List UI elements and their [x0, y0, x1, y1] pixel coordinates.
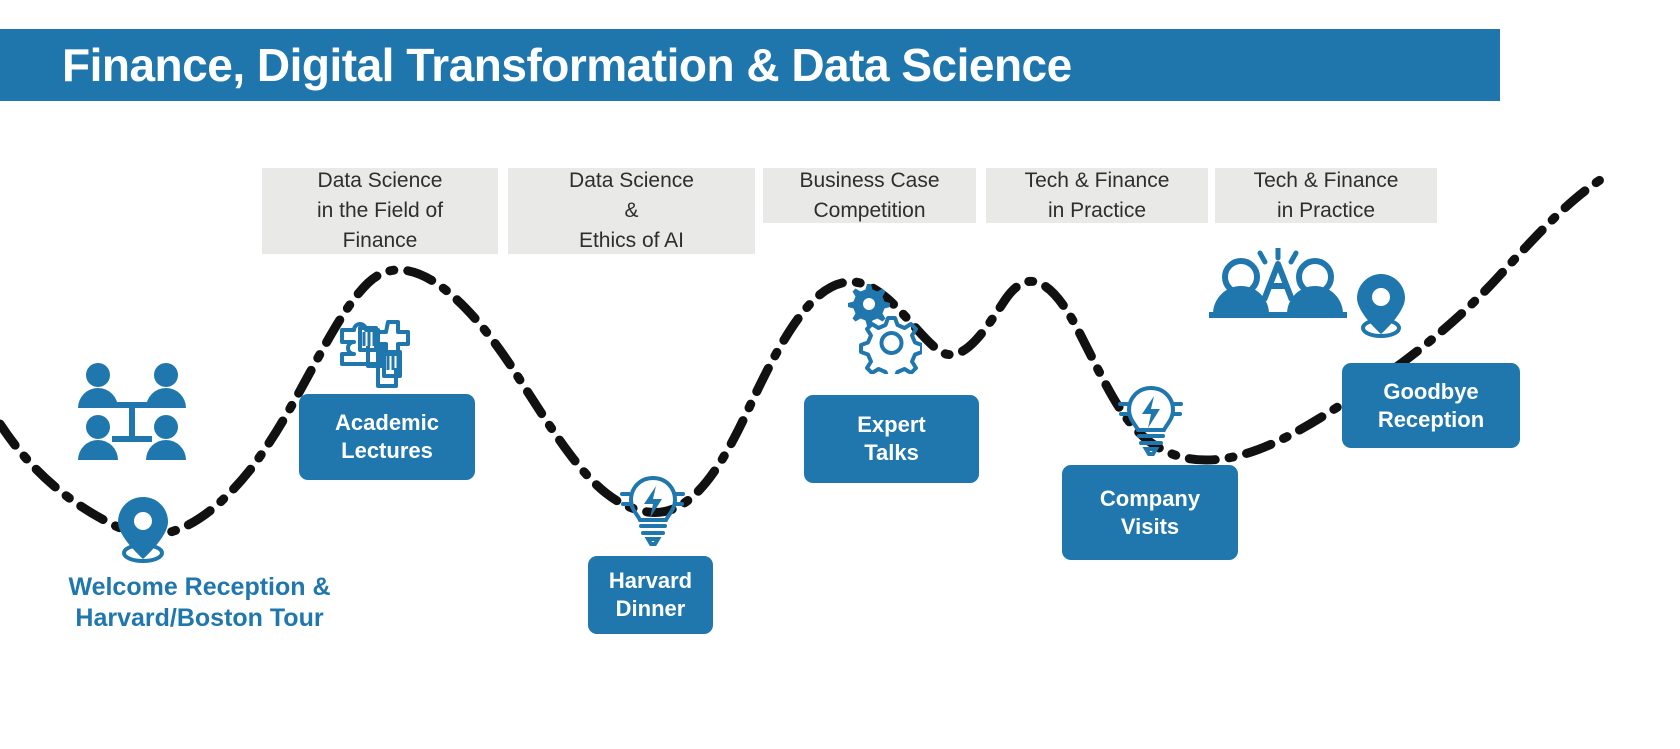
- topic-box-tech-finance-practice-2[interactable]: Tech & Finance in Practice: [1215, 168, 1437, 223]
- topic-line: Tech & Finance: [1025, 166, 1170, 196]
- topic-line: Data Science: [569, 166, 694, 196]
- event-line: Expert: [857, 411, 925, 439]
- event-line: Visits: [1121, 513, 1179, 541]
- event-caption-welcome-reception[interactable]: Welcome Reception & Harvard/Boston Tour: [62, 572, 337, 633]
- event-box-goodbye-reception[interactable]: Goodbye Reception: [1342, 363, 1520, 448]
- event-line: Reception: [1378, 406, 1484, 434]
- header-bar: Finance, Digital Transformation & Data S…: [0, 29, 1500, 101]
- topic-line: in Practice: [1277, 196, 1375, 226]
- page-title: Finance, Digital Transformation & Data S…: [0, 42, 1072, 88]
- topic-line: Business Case: [799, 166, 939, 196]
- topic-box-data-science-finance[interactable]: Data Science in the Field of Finance: [262, 168, 498, 254]
- topic-box-tech-finance-practice-1[interactable]: Tech & Finance in Practice: [986, 168, 1208, 223]
- topic-line: &: [624, 196, 638, 226]
- caption-line: Welcome Reception &: [62, 572, 337, 603]
- people-network-icon: [72, 360, 192, 468]
- infographic-canvas: Finance, Digital Transformation & Data S…: [0, 0, 1680, 749]
- event-line: Talks: [864, 439, 919, 467]
- topic-line: in the Field of: [317, 196, 443, 226]
- event-box-academic-lectures[interactable]: Academic Lectures: [299, 394, 475, 480]
- event-line: Lectures: [341, 437, 433, 465]
- location-pin-icon: [113, 495, 173, 567]
- topic-box-business-case-competition[interactable]: Business Case Competition: [763, 168, 976, 223]
- journey-path-line: [0, 180, 1600, 535]
- celebration-people-icon: [1207, 248, 1349, 320]
- location-pin-icon: [1352, 272, 1410, 342]
- topic-line: in Practice: [1048, 196, 1146, 226]
- gears-icon: [840, 280, 922, 374]
- event-line: Goodbye: [1383, 378, 1478, 406]
- lightbulb-bolt-icon: [1118, 378, 1184, 458]
- lightbulb-bolt-icon: [620, 468, 686, 548]
- puzzle-hands-icon: [338, 312, 416, 392]
- event-box-harvard-dinner[interactable]: Harvard Dinner: [588, 556, 713, 634]
- event-box-expert-talks[interactable]: Expert Talks: [804, 395, 979, 483]
- event-box-company-visits[interactable]: Company Visits: [1062, 465, 1238, 560]
- event-line: Harvard: [609, 567, 692, 595]
- topic-line: Data Science: [318, 166, 443, 196]
- event-line: Academic: [335, 409, 439, 437]
- topic-line: Competition: [813, 196, 925, 226]
- topic-line: Ethics of AI: [579, 226, 684, 256]
- event-line: Company: [1100, 485, 1200, 513]
- topic-line: Finance: [343, 226, 418, 256]
- topic-box-data-science-ethics[interactable]: Data Science & Ethics of AI: [508, 168, 755, 254]
- topic-line: Tech & Finance: [1254, 166, 1399, 196]
- event-line: Dinner: [616, 595, 686, 623]
- caption-line: Harvard/Boston Tour: [62, 603, 337, 634]
